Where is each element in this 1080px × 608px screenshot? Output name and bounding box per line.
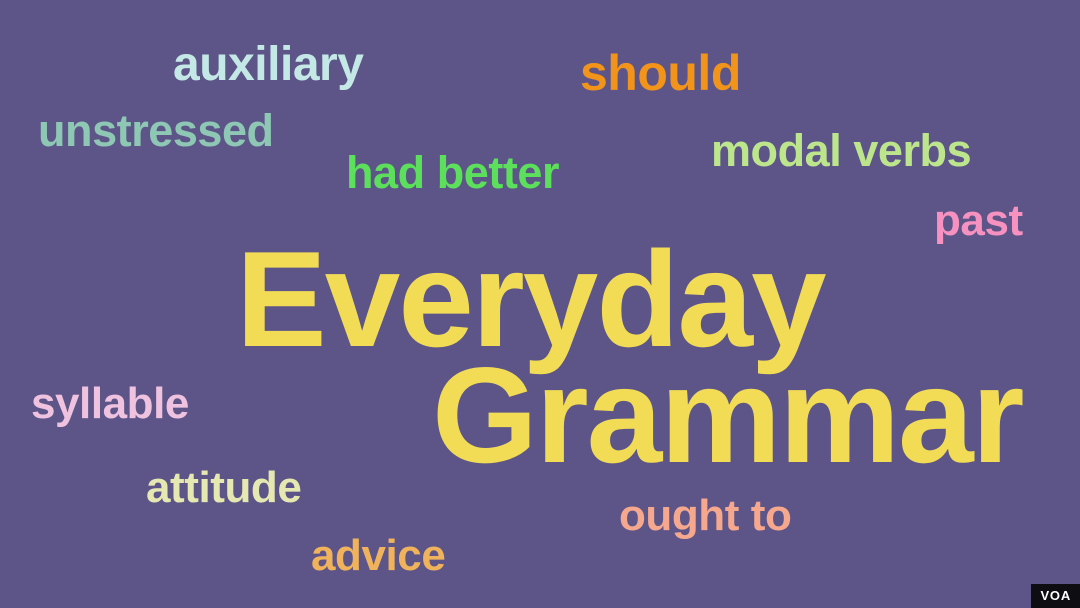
- voa-watermark: VOA: [1031, 584, 1080, 608]
- cloud-word-unstressed: unstressed: [38, 108, 274, 153]
- cloud-word-auxiliary: auxiliary: [173, 41, 363, 89]
- cloud-word-attitude: attitude: [146, 466, 301, 510]
- cloud-word-should: should: [580, 48, 741, 98]
- cloud-word-past: past: [934, 199, 1023, 243]
- cloud-word-ought-to: ought to: [619, 494, 791, 538]
- cloud-word-advice: advice: [311, 534, 445, 578]
- cloud-word-syllable: syllable: [31, 382, 189, 426]
- cloud-word-had-better: had better: [346, 150, 559, 195]
- cloud-word-grammar: Grammar: [432, 347, 1022, 483]
- cloud-word-modal-verbs: modal verbs: [711, 128, 971, 173]
- word-cloud-canvas: auxiliary should unstressed modal verbs …: [0, 0, 1080, 608]
